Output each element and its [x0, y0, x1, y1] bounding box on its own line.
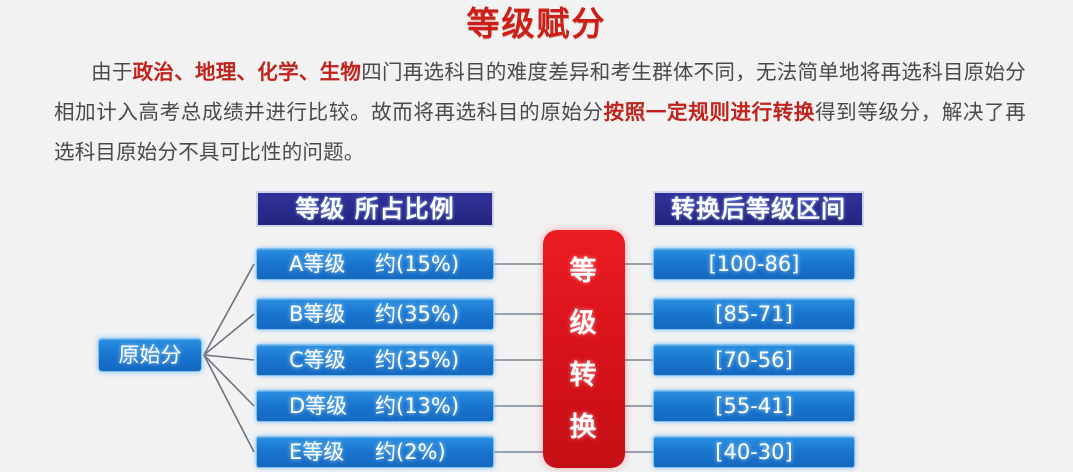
convert-char-2: 级	[543, 298, 625, 350]
grade-proportion-b: 约(35%)	[375, 299, 461, 329]
range-box-b: [85-71]	[653, 298, 855, 330]
range-box-e: [40-30]	[653, 436, 855, 468]
grade-label-e: E等级	[289, 437, 375, 467]
node-raw-score: 原始分	[98, 338, 202, 372]
text-segment-0: 由于	[91, 60, 133, 84]
grade-label-a: A等级	[289, 249, 375, 279]
page-title: 等级赋分	[0, 2, 1073, 46]
grade-label-b: B等级	[289, 299, 375, 329]
range-box-d: [55-41]	[653, 390, 855, 422]
grade-label-c: C等级	[289, 345, 375, 375]
grade-box-c: C等级约(35%)	[256, 344, 494, 376]
article-paragraph: 由于政治、地理、化学、生物四门再选科目的难度差异和考生群体不同，无法简单地将再选…	[54, 52, 1026, 172]
column-header-converted-range: 转换后等级区间	[653, 191, 864, 227]
connector-lines	[0, 178, 1073, 472]
grade-box-b: B等级约(35%)	[256, 298, 494, 330]
grade-conversion-diagram: 等级 所占比例 转换后等级区间 原始分 A等级约(15%) B等级约(35%) …	[0, 178, 1073, 472]
column-header-grade-proportion: 等级 所占比例	[256, 191, 494, 227]
convert-char-1: 等	[543, 246, 625, 298]
range-box-a: [100-86]	[653, 248, 855, 280]
grade-box-a: A等级约(15%)	[256, 248, 494, 280]
grade-proportion-c: 约(35%)	[375, 345, 461, 375]
convert-char-4: 换	[543, 402, 625, 454]
grade-label-d: D等级	[289, 391, 375, 421]
range-box-c: [70-56]	[653, 344, 855, 376]
grade-box-e: E等级约(2%)	[256, 436, 494, 468]
convert-char-3: 转	[543, 350, 625, 402]
grade-box-d: D等级约(13%)	[256, 390, 494, 422]
grade-proportion-e: 约(2%)	[375, 437, 461, 467]
node-grade-conversion: 等 级 转 换	[543, 230, 625, 468]
grade-proportion-d: 约(13%)	[375, 391, 461, 421]
text-segment-3-highlight: 按照一定规则进行转换	[604, 100, 815, 124]
text-segment-1-highlight: 政治、地理、化学、生物	[133, 60, 362, 84]
grade-proportion-a: 约(15%)	[375, 249, 461, 279]
